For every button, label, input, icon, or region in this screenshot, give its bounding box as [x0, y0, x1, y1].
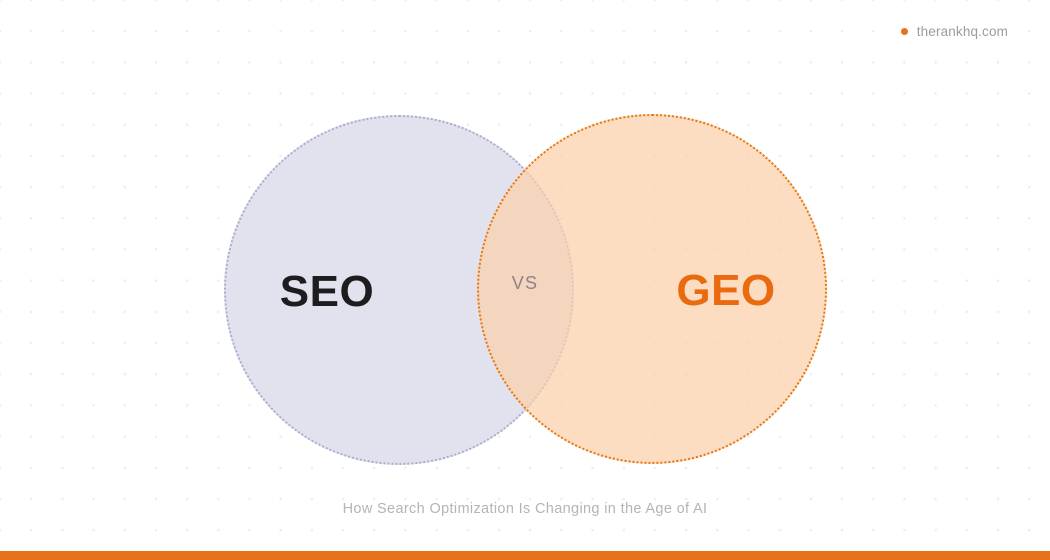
slide-caption: How Search Optimization Is Changing in t…: [0, 501, 1050, 517]
venn-diagram: SEO GEO VS: [0, 0, 1050, 490]
bottom-accent-bar: [0, 551, 1050, 560]
brand-watermark: therankhq.com: [901, 24, 1008, 39]
venn-overlap-label: VS: [0, 273, 1050, 294]
brand-name: therankhq.com: [917, 24, 1008, 39]
slide-canvas: therankhq.com SEO GEO VS How Search Opti…: [0, 0, 1050, 560]
bullet-dot-icon: [901, 28, 908, 35]
